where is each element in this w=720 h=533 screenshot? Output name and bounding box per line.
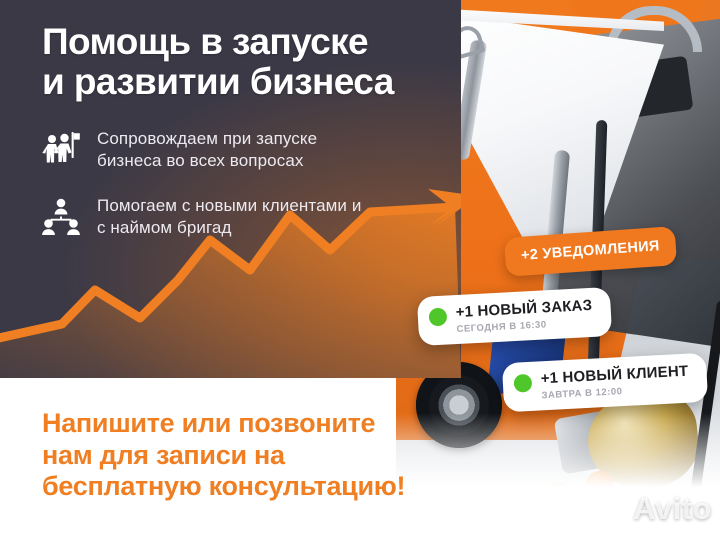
avito-watermark: Avito [606,491,712,527]
two-people-with-flag-icon [42,130,80,168]
headline-line-1: Помощь в запуске [42,21,368,62]
avito-logo-ring-icon [606,498,628,520]
feature-item: Помогаем с новыми клиентами и с наймом б… [42,195,372,240]
green-status-dot [513,374,532,393]
notifications-badge-label: +2 УВЕДОМЛЕНИЯ [521,238,661,264]
page-title: Помощь в запуске и развитии бизнеса [42,22,442,102]
new-order-card[interactable]: +1 НОВЫЙ ЗАКАЗ СЕГОДНЯ В 16:30 [417,287,612,346]
dark-content-panel: Помощь в запуске и развитии бизнеса Сопр… [0,0,461,378]
avito-watermark-text: Avito [633,491,712,527]
headline-line-2: и развитии бизнеса [42,62,442,102]
cta-line-1: Напишите или позвоните [42,408,482,440]
green-status-dot [428,308,447,327]
team-hierarchy-icon [42,197,80,235]
feature-item: Сопровождаем при запуске бизнеса во всех… [42,128,372,173]
promo-banner: Помощь в запуске и развитии бизнеса Сопр… [0,0,720,533]
feature-text: Сопровождаем при запуске бизнеса во всех… [97,128,372,173]
call-to-action: Напишите или позвоните нам для записи на… [42,408,482,503]
cta-line-3: бесплатную консультацию! [42,471,482,503]
cta-line-2: нам для записи на [42,440,482,472]
feature-list: Сопровождаем при запуске бизнеса во всех… [42,128,372,262]
feature-text: Помогаем с новыми клиентами и с наймом б… [97,195,372,240]
